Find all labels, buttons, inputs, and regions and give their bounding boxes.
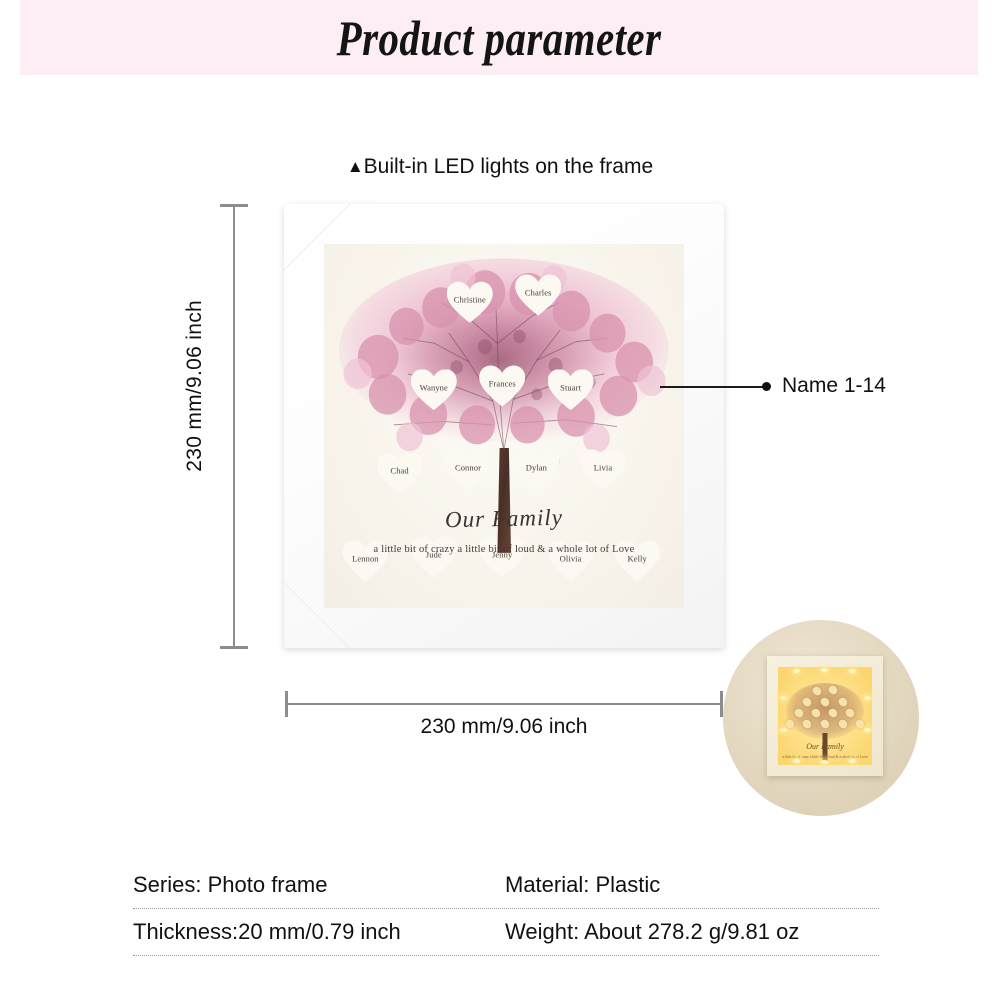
led-dot-icon bbox=[793, 759, 800, 763]
dimension-label-height: 230 mm/9.06 inch bbox=[183, 300, 223, 472]
spec-weight: Weight: About 278.2 g/9.81 oz bbox=[505, 919, 879, 945]
heart-name-label: Chad bbox=[377, 466, 423, 476]
inset-tagline: a little bit of crazy a little bit of lo… bbox=[778, 755, 872, 759]
heart-name-label: Livia bbox=[580, 462, 626, 472]
name-heart: Jude bbox=[411, 537, 457, 578]
heart-name-label: Christine bbox=[447, 295, 493, 305]
heart-name-label: Frances bbox=[479, 378, 525, 388]
table-row: Thickness:20 mm/0.79 inch Weight: About … bbox=[133, 909, 879, 956]
led-dot-icon bbox=[821, 760, 828, 764]
triangle-icon: ▲ bbox=[347, 157, 364, 176]
led-caption: ▲Built-in LED lights on the frame bbox=[0, 155, 1000, 179]
heart-name-label: Stuart bbox=[548, 382, 594, 392]
dimension-tick-bottom bbox=[220, 646, 248, 649]
led-dot-icon bbox=[849, 669, 856, 673]
name-heart: Christine bbox=[447, 282, 493, 323]
name-heart: Charles bbox=[515, 274, 561, 315]
led-dot-icon bbox=[821, 668, 828, 672]
heart-name-label: Wanyne bbox=[411, 382, 457, 392]
name-heart: Livia bbox=[580, 449, 626, 490]
table-row: Series: Photo frame Material: Plastic bbox=[133, 862, 879, 909]
led-caption-text: Built-in LED lights on the frame bbox=[364, 155, 653, 178]
led-lit-inset-photo: Our Family a little bit of crazy a littl… bbox=[723, 620, 919, 816]
inset-script-title: Our Family bbox=[778, 742, 872, 751]
name-heart: Connor bbox=[445, 449, 491, 490]
name-heart: Stuart bbox=[548, 369, 594, 410]
product-photo-frame: ChristineCharlesWanyneFrancesStuartChadC… bbox=[284, 204, 724, 648]
artwork-tagline: a little bit of crazy a little bit of lo… bbox=[324, 544, 684, 555]
spec-thickness: Thickness:20 mm/0.79 inch bbox=[133, 919, 505, 945]
inset-frame-border: Our Family a little bit of crazy a littl… bbox=[767, 656, 883, 776]
inset-hearts-layer bbox=[778, 683, 872, 733]
family-tree-artwork: ChristineCharlesWanyneFrancesStuartChadC… bbox=[324, 244, 684, 608]
header-band: Product parameter bbox=[20, 0, 978, 75]
dimension-label-width: 230 mm/9.06 inch bbox=[285, 715, 723, 739]
heart-name-label: Charles bbox=[515, 287, 561, 297]
name-heart: Dylan bbox=[513, 449, 559, 490]
callout-dot bbox=[762, 382, 771, 391]
frame-shadowbox-inner: ChristineCharlesWanyneFrancesStuartChadC… bbox=[324, 244, 684, 608]
dimension-line-horizontal bbox=[285, 703, 723, 705]
callout-leader-line bbox=[660, 386, 765, 388]
name-heart: Chad bbox=[377, 453, 423, 494]
heart-name-label: Dylan bbox=[513, 462, 559, 472]
name-heart: Frances bbox=[479, 365, 525, 406]
callout-label-names: Name 1-14 bbox=[782, 374, 886, 398]
product-parameter-page: Product parameter ▲Built-in LED lights o… bbox=[0, 0, 1000, 1000]
spec-series: Series: Photo frame bbox=[133, 872, 505, 898]
inset-led-glow: Our Family a little bit of crazy a littl… bbox=[778, 667, 872, 765]
dimension-line-vertical bbox=[233, 205, 235, 648]
led-dot-icon bbox=[780, 728, 787, 732]
name-heart: Wanyne bbox=[411, 369, 457, 410]
led-dot-icon bbox=[793, 669, 800, 673]
page-title: Product parameter bbox=[106, 0, 892, 75]
heart-name-label: Connor bbox=[445, 462, 491, 472]
spec-material: Material: Plastic bbox=[505, 872, 879, 898]
spec-table: Series: Photo frame Material: Plastic Th… bbox=[133, 862, 879, 956]
led-dot-icon bbox=[849, 759, 856, 763]
